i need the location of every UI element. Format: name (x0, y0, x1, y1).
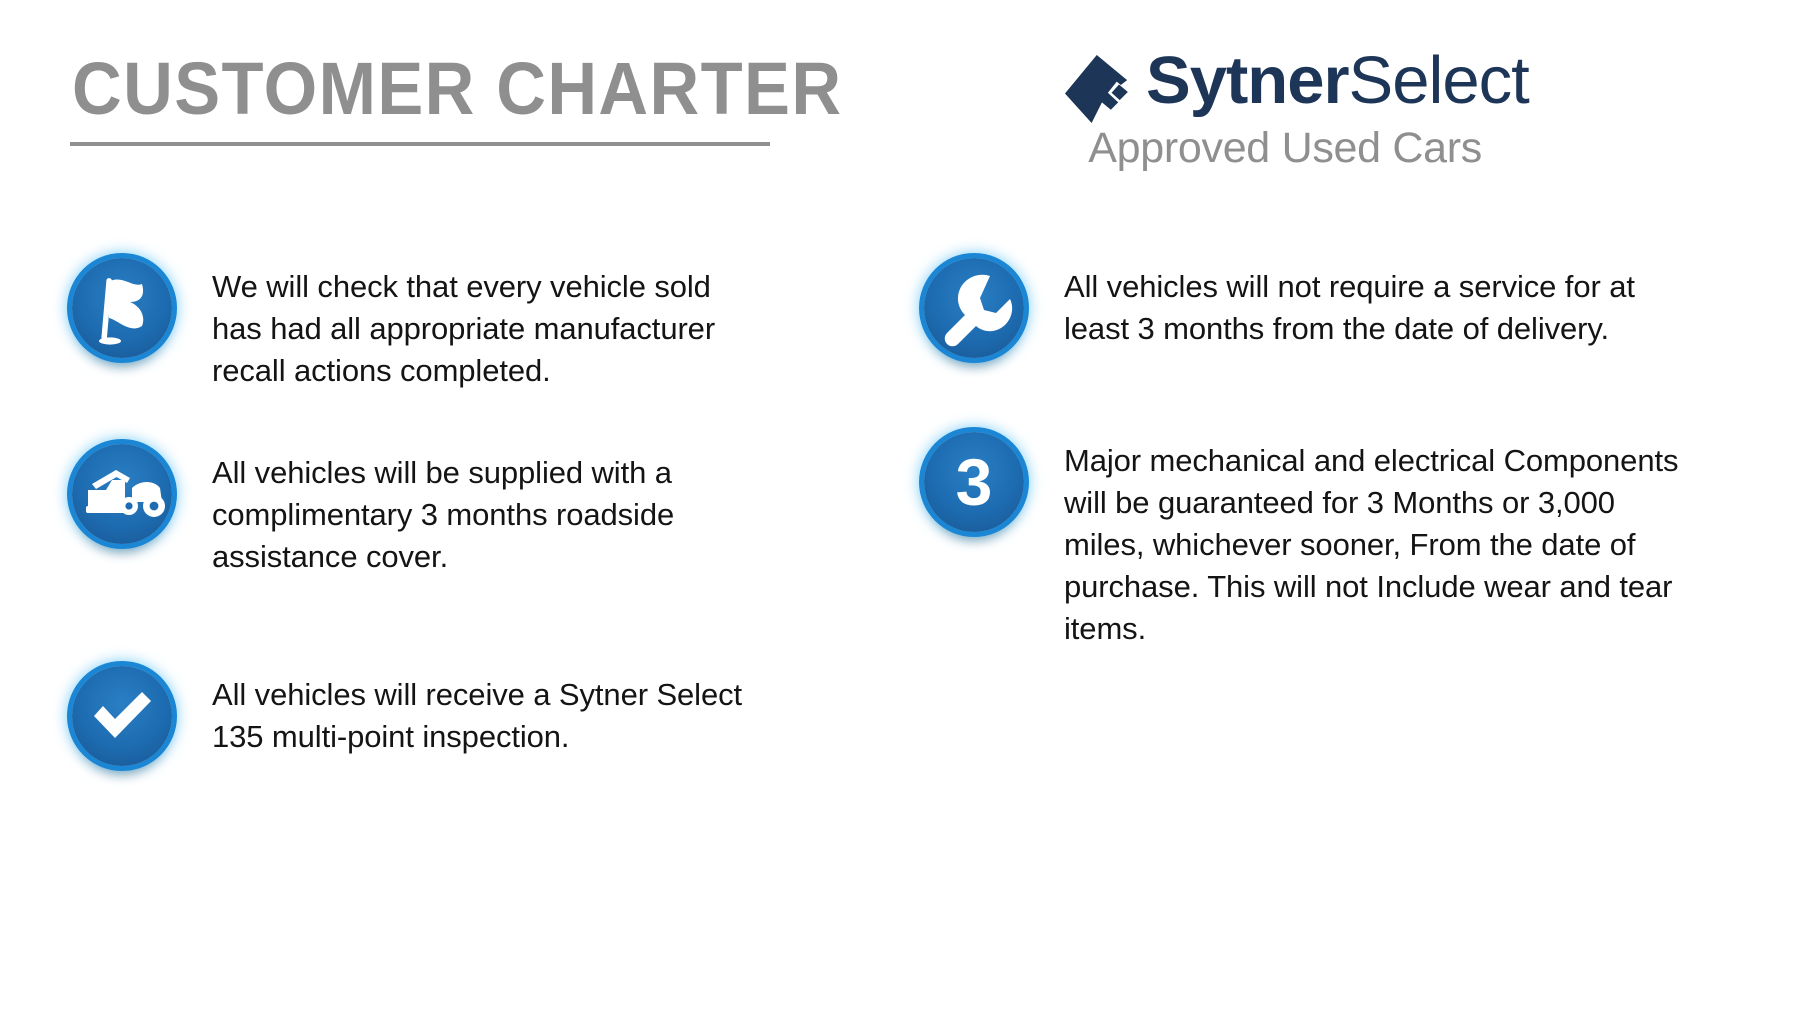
logo-lockup: SytnerSelect (1062, 44, 1529, 126)
charter-item: All vehicles will be supplied with a com… (66, 438, 880, 578)
charter-item-paragraph: All vehicles will be supplied with a com… (212, 452, 772, 578)
number-three-glyph: 3 (924, 432, 1024, 532)
charter-item-icon: 3 (918, 426, 1030, 538)
logo-tagline: Approved Used Cars (1088, 124, 1482, 173)
charter-item-text: Major mechanical and electrical Componen… (1064, 426, 1684, 650)
wrench-icon (924, 258, 1024, 358)
charter-item: All vehicles will receive a Sytner Selec… (66, 660, 880, 772)
logo-wordmark: SytnerSelect (1146, 44, 1529, 118)
charter-item-paragraph: All vehicles will receive a Sytner Selec… (212, 674, 772, 758)
charter-item-paragraph: All vehicles will not require a service … (1064, 266, 1684, 350)
page-title: CUSTOMER CHARTER (72, 52, 842, 126)
check-mark-icon (72, 666, 172, 766)
title-underline-rule (70, 142, 770, 146)
charter-item-paragraph: Major mechanical and electrical Componen… (1064, 440, 1684, 650)
charter-item-text: All vehicles will be supplied with a com… (212, 438, 772, 578)
charter-item-icon (66, 438, 178, 550)
brand-logo: SytnerSelect Approved Used Cars (1062, 44, 1482, 169)
charter-item-icon (66, 660, 178, 772)
charter-item-text: All vehicles will receive a Sytner Selec… (212, 660, 772, 758)
number-three-badge-icon: 3 (924, 432, 1024, 532)
charter-column-left: We will check that every vehicle sold ha… (0, 252, 880, 772)
charter-item: All vehicles will not require a service … (918, 252, 1760, 364)
charter-item: 3 Major mechanical and electrical Compon… (918, 426, 1760, 650)
logo-word-select: Select (1349, 43, 1529, 118)
logo-word-sytner: Sytner (1146, 43, 1349, 118)
sytner-diamond-logo-mark (1062, 52, 1136, 126)
tow-truck-icon (72, 444, 172, 544)
charter-item-icon (66, 252, 178, 364)
charter-item-text: All vehicles will not require a service … (1064, 252, 1684, 350)
charter-item-paragraph: We will check that every vehicle sold ha… (212, 266, 732, 392)
page-header: CUSTOMER CHARTER SytnerSelect Approved U… (0, 0, 1800, 200)
charter-item: We will check that every vehicle sold ha… (66, 252, 880, 392)
charter-columns: We will check that every vehicle sold ha… (0, 252, 1800, 772)
charter-item-text: We will check that every vehicle sold ha… (212, 252, 732, 392)
flag-icon (72, 258, 172, 358)
charter-column-right: All vehicles will not require a service … (880, 252, 1760, 772)
charter-item-icon (918, 252, 1030, 364)
